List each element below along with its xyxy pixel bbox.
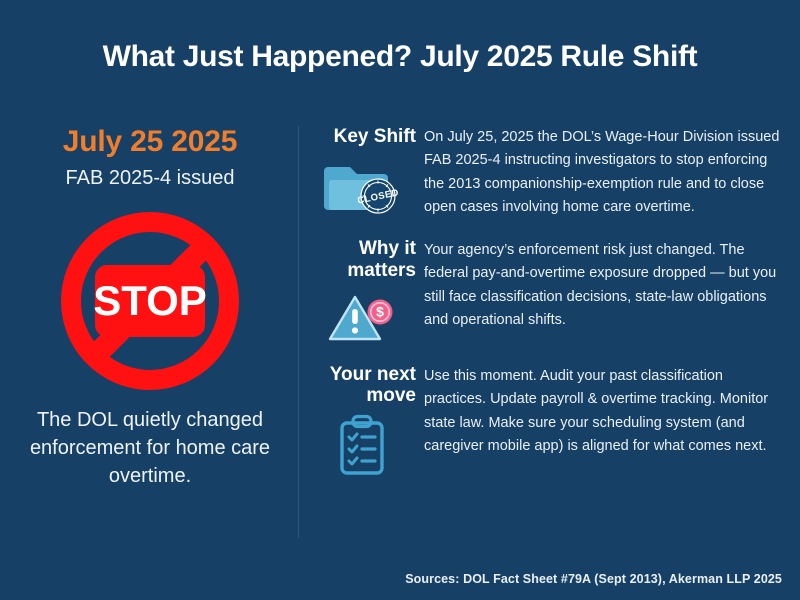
row-label-key-shift: Key Shift xyxy=(312,126,416,148)
row-icon-wrapper-why-it-matters: $ xyxy=(312,288,416,346)
row-left-key-shift: Key Shift xyxy=(312,126,424,214)
row-body-your-next-move: Use this moment. Audit your past classif… xyxy=(424,364,788,459)
content-row-key-shift: Key Shift xyxy=(312,126,788,220)
content-row-your-next-move: Your next move xyxy=(312,364,788,478)
folder-closed-stamp-icon: CLOSED xyxy=(324,154,400,214)
clipboard-checklist-icon xyxy=(332,413,392,477)
svg-text:$: $ xyxy=(376,303,384,319)
row-left-your-next-move: Your next move xyxy=(312,364,424,478)
content-row-why-it-matters: Why it matters $ Your agency’s xyxy=(312,238,788,346)
date-headline: July 25 2025 xyxy=(14,126,286,158)
row-left-why-it-matters: Why it matters $ xyxy=(312,238,424,346)
date-subtitle: FAB 2025-4 issued xyxy=(14,166,286,190)
stop-prohibition-icon: STOP xyxy=(47,212,253,390)
stop-icon-label: STOP xyxy=(93,277,207,324)
column-divider xyxy=(298,126,299,538)
row-label-your-next-move: Your next move xyxy=(312,364,416,408)
infographic-canvas: What Just Happened? July 2025 Rule Shift… xyxy=(0,0,800,600)
left-kicker-text: The DOL quietly changed enforcement for … xyxy=(14,406,286,491)
row-label-why-it-matters: Why it matters xyxy=(312,238,416,282)
row-icon-wrapper-key-shift: CLOSED xyxy=(312,154,416,214)
row-body-key-shift: On July 25, 2025 the DOL’s Wage-Hour Div… xyxy=(424,126,788,220)
sources-footer: Sources: DOL Fact Sheet #79A (Sept 2013)… xyxy=(405,572,782,586)
left-column: July 25 2025 FAB 2025-4 issued STOP The … xyxy=(14,126,286,491)
stop-icon-wrapper: STOP xyxy=(14,212,286,390)
warning-triangle-dollar-icon: $ xyxy=(325,288,399,346)
row-body-why-it-matters: Your agency’s enforcement risk just chan… xyxy=(424,238,788,333)
row-icon-wrapper-your-next-move xyxy=(312,413,416,477)
right-column: Key Shift xyxy=(312,126,788,477)
page-title: What Just Happened? July 2025 Rule Shift xyxy=(0,40,800,73)
